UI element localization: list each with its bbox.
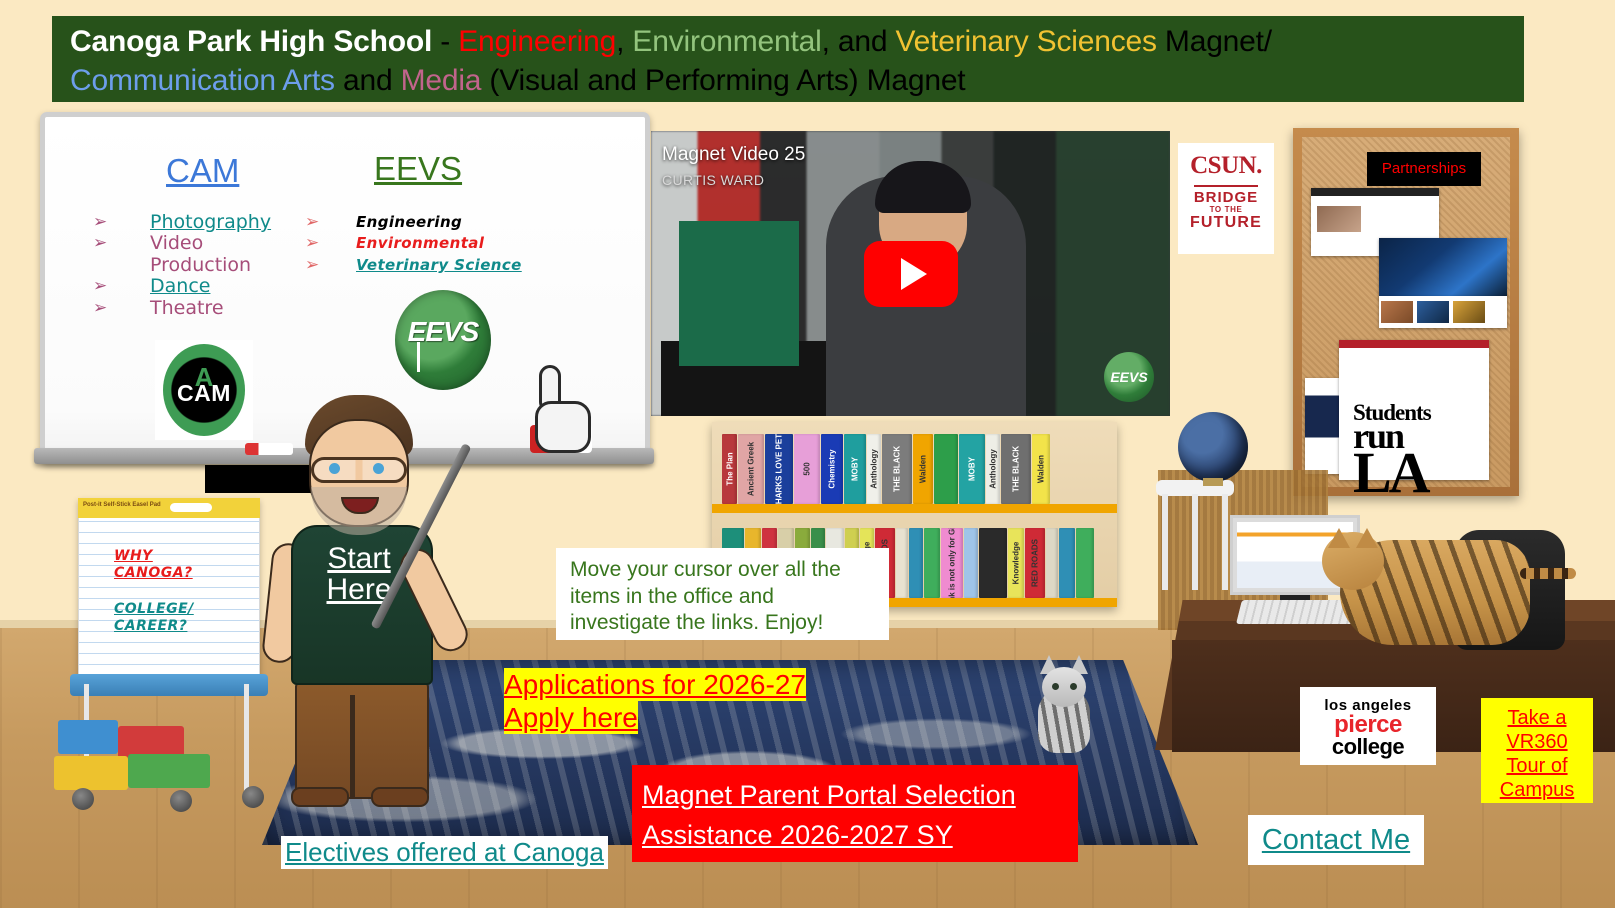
magnet-video-player[interactable]: Magnet Video 25 CURTIS WARD EEVS (651, 131, 1170, 416)
book-spine-label: Anthology (870, 449, 879, 489)
book-spine[interactable] (1046, 528, 1058, 598)
book-spine[interactable]: Chemistry (821, 434, 843, 504)
students-run-la-poster[interactable]: Students run LA (1353, 404, 1513, 495)
book-row-upper[interactable]: The PlanAncient GreekSHARKS LOVE PETS500… (722, 431, 1107, 504)
kitten-head (1042, 667, 1086, 707)
youtube-play-button[interactable] (864, 241, 958, 307)
pinned-thumbnail-strip[interactable] (1379, 296, 1507, 328)
book-spine-label: Pink is not only for Girls (948, 528, 957, 598)
why-canoga-line-1: WHY (114, 548, 153, 564)
csun-future: FUTURE (1178, 214, 1274, 232)
book-spine[interactable]: Knowledge (1008, 528, 1024, 598)
teacher-eye-left (329, 463, 340, 474)
thumb-tunnel (1453, 301, 1485, 323)
book-spine[interactable] (924, 528, 940, 598)
cam-item-theatre: Theatre (150, 298, 330, 319)
parent-portal-link-line-2[interactable]: Assistance 2026-2027 SY (642, 815, 1068, 855)
cam-item-video: Video (150, 233, 330, 254)
title-and: and (335, 64, 401, 97)
pointing-palm (535, 401, 591, 453)
instructions-callout: Move your cursor over all the items in t… (556, 548, 889, 640)
title-magnet-tail: Magnet/ (1157, 25, 1272, 58)
vr360-link[interactable]: Take a VR360 Tour of Campus (1500, 707, 1574, 801)
book-spine-label: THE BLACK (893, 446, 902, 492)
cam-arrow-0: ➢ (93, 211, 107, 232)
college-career-line-2: CAREER? (114, 618, 187, 634)
cam-arrow-2: ➢ (93, 275, 107, 296)
kitten-on-floor[interactable] (1032, 655, 1096, 755)
video-author: CURTIS WARD (662, 172, 764, 188)
book-spine[interactable]: THE BLACK (1001, 434, 1031, 504)
cam-link-photography[interactable]: Photography (150, 211, 271, 233)
kitten-eye-left (1052, 683, 1059, 690)
bitmoji-teacher[interactable]: Start Here (285, 395, 535, 815)
hint-line-1: Move your cursor over all the (570, 557, 875, 584)
book-spine-label: Knowledge (1012, 542, 1021, 585)
contact-me-link[interactable]: Contact Me (1262, 824, 1410, 857)
cat-ear-right (1356, 528, 1378, 548)
book-spine[interactable] (896, 528, 908, 598)
thumb-jet (1417, 301, 1449, 323)
book-spine[interactable] (1059, 528, 1075, 598)
cat-tail (1520, 568, 1576, 579)
parent-portal-link-line-1[interactable]: Magnet Parent Portal Selection (642, 775, 1068, 815)
page-title-banner: Canoga Park High School - Engineering, E… (52, 16, 1524, 102)
shelf-rail-upper (712, 504, 1117, 513)
wind-turbine-icon (417, 342, 420, 372)
book-spine-label: SHARKS LOVE PETS (775, 434, 784, 504)
globe[interactable] (1178, 412, 1248, 482)
book-spine-label: Anthology (989, 449, 998, 489)
easel-chart-stand[interactable]: Post-it Self-Stick Easel Pad WHY CANOGA?… (66, 498, 266, 758)
postit-brand: Post-it Self-Stick Easel Pad (83, 502, 161, 508)
supply-bin-yellow (54, 756, 128, 790)
cart-wheel-right (242, 786, 264, 808)
eevs-arrow-2: ➢ (305, 254, 319, 275)
teacher-shoe-right (371, 787, 429, 807)
eevs-watermark-badge: EEVS (1104, 352, 1154, 402)
pointing-hand-icon (531, 367, 595, 457)
book-spine-label: The Plan (725, 452, 734, 485)
book-spine[interactable]: MOBY (959, 434, 985, 504)
book-spine[interactable]: Anthology (867, 434, 881, 504)
contact-me-callout[interactable]: Contact Me (1248, 815, 1424, 865)
book-spine[interactable]: Ancient Greek (738, 434, 764, 504)
college-career-link[interactable]: COLLEGE/ CAREER? (114, 601, 194, 635)
eevs-heading-link[interactable]: EEVS (374, 150, 462, 188)
book-spine[interactable]: THE BLACK (882, 434, 912, 504)
cam-bullet-arrows: ➢ ➢ ➢ ➢ (93, 211, 107, 318)
book-spine[interactable] (1076, 528, 1094, 598)
book-spine-label: 500 (803, 462, 812, 475)
book-spine-label: RED ROADS (1031, 539, 1040, 587)
eevs-arrow-1: ➢ (305, 232, 319, 253)
parent-portal-banner[interactable]: Magnet Parent Portal Selection Assistanc… (632, 765, 1078, 862)
kitten-eye-right (1070, 683, 1077, 690)
hint-line-3: investigate the links. Enjoy! (570, 610, 875, 637)
side-table (1156, 480, 1234, 590)
eevs-program-list: Engineering Environmental Veterinary Sci… (356, 212, 576, 276)
bengal-cat-on-desk[interactable] (1340, 540, 1530, 645)
start-here-line-1: Start (327, 542, 390, 575)
book-spine[interactable]: SHARKS LOVE PETS (765, 434, 793, 504)
title-dash: - (432, 25, 458, 58)
cam-arrow-1: ➢ (93, 232, 107, 253)
title-veterinary: Veterinary Sciences (895, 25, 1156, 58)
csun-bridge-to-future-logo[interactable]: CSUN. BRIDGE TO THE FUTURE (1178, 143, 1274, 254)
book-spine[interactable] (909, 528, 923, 598)
vr-line-4: Campus (1500, 779, 1574, 801)
why-canoga-line-2: CANOGA? (114, 565, 193, 581)
book-spine[interactable]: Walden (913, 434, 933, 504)
applications-link-line-1[interactable]: Applications for 2026-27 (504, 668, 806, 701)
cam-arrow-3: ➢ (93, 297, 107, 318)
easel-tray (70, 674, 268, 696)
cart-wheel-left (72, 788, 94, 810)
teacher-shoe-left (291, 787, 349, 807)
glasses-icon (311, 457, 407, 483)
teacher-pants (295, 681, 429, 799)
applications-callout[interactable]: Applications for 2026-27 Apply here (504, 668, 806, 734)
runla-line-3: LA (1353, 450, 1513, 495)
eevs-link-veterinary-science[interactable]: Veterinary Science (356, 256, 522, 274)
video-title: Magnet Video 25 (662, 144, 805, 166)
cam-logo[interactable]: A CAM (155, 340, 253, 440)
eevs-arrow-0: ➢ (305, 211, 319, 232)
book-spine[interactable]: Pink is not only for Girls (941, 528, 963, 598)
applications-link-line-2[interactable]: Apply here (504, 701, 638, 734)
title-line-2: Communication Arts and Media (Visual and… (70, 61, 1506, 100)
pierce-line-3: college (1300, 736, 1436, 758)
globe-stand (1203, 478, 1223, 486)
electives-callout[interactable]: Electives offered at Canoga (281, 836, 608, 869)
book-spine[interactable]: Anthology (986, 434, 1000, 504)
book-spine[interactable] (979, 528, 1007, 598)
book-spine-label: Chemistry (828, 449, 837, 488)
cam-item-production: Production (150, 255, 330, 276)
cam-link-dance[interactable]: Dance (150, 275, 210, 297)
vr-line-1: Take a (1508, 707, 1567, 729)
teacher-leg-split (350, 695, 355, 799)
eevs-logo-text: EEVS (395, 316, 491, 348)
eevs-logo[interactable]: EEVS (395, 290, 491, 390)
csun-bridge: BRIDGE (1178, 190, 1274, 205)
easel-pad (78, 498, 260, 676)
book-spine-label: MOBY (851, 457, 860, 481)
side-table-leg-1 (1162, 494, 1168, 590)
pierce-line-2: pierce (1300, 713, 1436, 736)
vr-line-2: VR360 (1506, 731, 1567, 753)
eevs-item-engineering: Engineering (356, 212, 576, 233)
supply-bin-green (128, 754, 210, 788)
title-comma-1: , (616, 25, 632, 58)
title-media: Media (401, 64, 482, 97)
title-engineering: Engineering (458, 25, 616, 58)
side-table-leg-3 (1222, 494, 1228, 590)
book-spine-label: Walden (919, 455, 928, 483)
side-table-leg-2 (1192, 494, 1198, 590)
pierce-college-logo[interactable]: los angeles pierce college (1300, 687, 1436, 765)
partnerships-bulletin-board[interactable]: Partnerships Students run LA (1293, 128, 1519, 496)
electives-link[interactable]: Electives offered at Canoga (285, 837, 604, 867)
book-spine[interactable]: Walden (1032, 434, 1050, 504)
video-pneumatics-board (679, 221, 799, 366)
book-spine[interactable]: 500 (794, 434, 820, 504)
cam-item-dance[interactable]: Dance (150, 276, 330, 297)
title-line-1: Canoga Park High School - Engineering, E… (70, 22, 1506, 61)
easel-pad-slot (170, 503, 212, 512)
book-spine[interactable] (934, 434, 958, 504)
pinned-screenshot-aerospace[interactable] (1379, 238, 1507, 298)
book-spine-label: Walden (1037, 455, 1046, 483)
book-spine-label: THE BLACK (1012, 446, 1021, 492)
title-comma-2: , and (822, 25, 896, 58)
cam-program-list: Photography Video Production Dance Theat… (150, 212, 330, 319)
cam-item-photography[interactable]: Photography (150, 212, 330, 233)
csun-divider (1194, 185, 1258, 187)
book-spine-label: MOBY (968, 457, 977, 481)
title-environmental: Environmental (632, 25, 821, 58)
cart-leg-right (244, 684, 249, 802)
vr360-tour-callout[interactable]: Take a VR360 Tour of Campus (1481, 698, 1593, 803)
bitmoji-classroom-slide: Canoga Park High School - Engineering, E… (0, 0, 1615, 908)
book-spine[interactable] (964, 528, 978, 598)
csun-to-the: TO THE (1178, 205, 1274, 214)
easel-pad-header: Post-it Self-Stick Easel Pad (78, 498, 260, 518)
school-name: Canoga Park High School (70, 25, 432, 58)
college-career-line-1: COLLEGE/ (114, 601, 194, 617)
cam-heading-link[interactable]: CAM (166, 152, 239, 190)
partnerships-label: Partnerships (1367, 152, 1481, 186)
cart-wheel-mid (170, 790, 192, 812)
book-spine[interactable]: RED ROADS (1025, 528, 1045, 598)
cat-ear-left (1328, 528, 1350, 548)
thumb-rover (1381, 301, 1413, 323)
csun-wordmark: CSUN. (1178, 152, 1274, 180)
cam-logo-text: CAM (155, 380, 253, 407)
title-communication-arts: Communication Arts (70, 64, 335, 97)
vr-line-3: Tour of (1506, 755, 1567, 777)
book-spine[interactable]: The Plan (722, 434, 737, 504)
eevs-bullet-arrows: ➢ ➢ ➢ (305, 211, 319, 275)
why-canoga-link[interactable]: WHY CANOGA? (114, 548, 193, 582)
eevs-item-environmental: Environmental (356, 233, 576, 254)
title-vapa-tail: (Visual and Performing Arts) Magnet (481, 64, 965, 97)
book-spine-label: Ancient Greek (747, 442, 756, 496)
teacher-eye-right (373, 463, 384, 474)
book-spine[interactable]: MOBY (844, 434, 866, 504)
supply-bin-blue (58, 720, 118, 754)
play-icon (901, 258, 927, 290)
hint-line-2: items in the office and (570, 584, 875, 611)
eevs-item-veterinary[interactable]: Veterinary Science (356, 255, 576, 276)
pinned-photo-students (1317, 206, 1361, 232)
